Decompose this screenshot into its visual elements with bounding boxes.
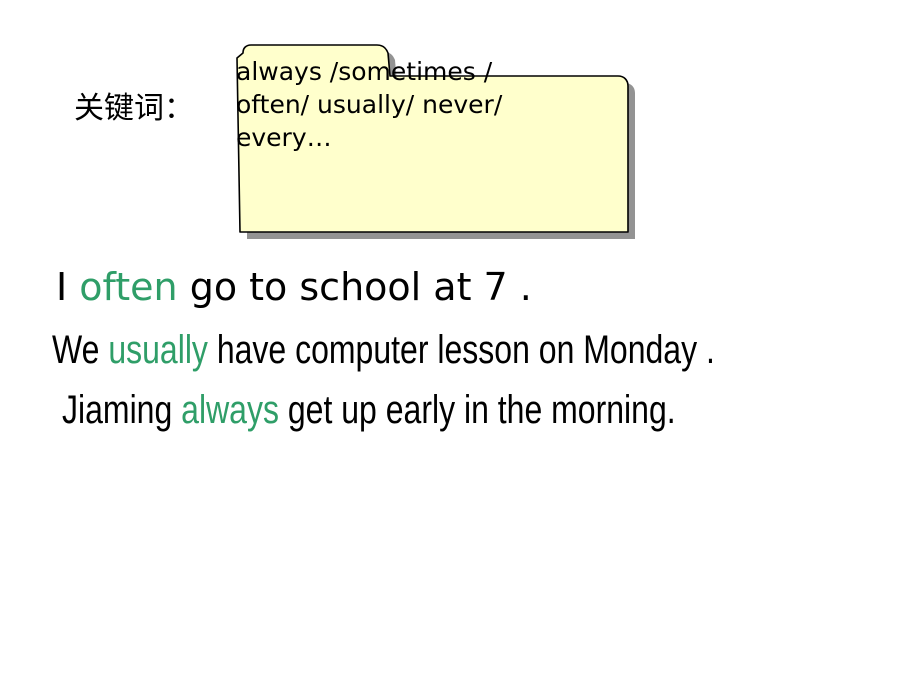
sentence-2-before: We [52, 328, 108, 372]
sentence-2-after: have computer lesson on Monday . [208, 328, 715, 372]
sentence-3-before: Jiaming [62, 388, 181, 432]
sentence-3-after: get up early in the morning. [279, 388, 676, 432]
sentence-3: Jiaming always get up early in the morni… [62, 386, 676, 434]
sentence-1: I often go to school at 7 . [56, 264, 532, 310]
keyword-label: 关键词： [74, 92, 194, 126]
sentence-3-highlight: always [181, 388, 279, 432]
note-keyword-text: always /sometimes / often/ usually/ neve… [236, 55, 606, 154]
sentence-1-before: I [56, 265, 79, 309]
sentence-2: We usually have computer lesson on Monda… [52, 326, 715, 374]
slide-canvas: 关键词： always /sometimes / often/ usually/… [0, 0, 920, 690]
sentence-1-after: go to school at 7 . [178, 265, 532, 309]
keyword-note-callout: always /sometimes / often/ usually/ neve… [222, 40, 642, 245]
sentence-1-highlight: often [79, 265, 177, 309]
sentence-2-highlight: usually [108, 328, 208, 372]
